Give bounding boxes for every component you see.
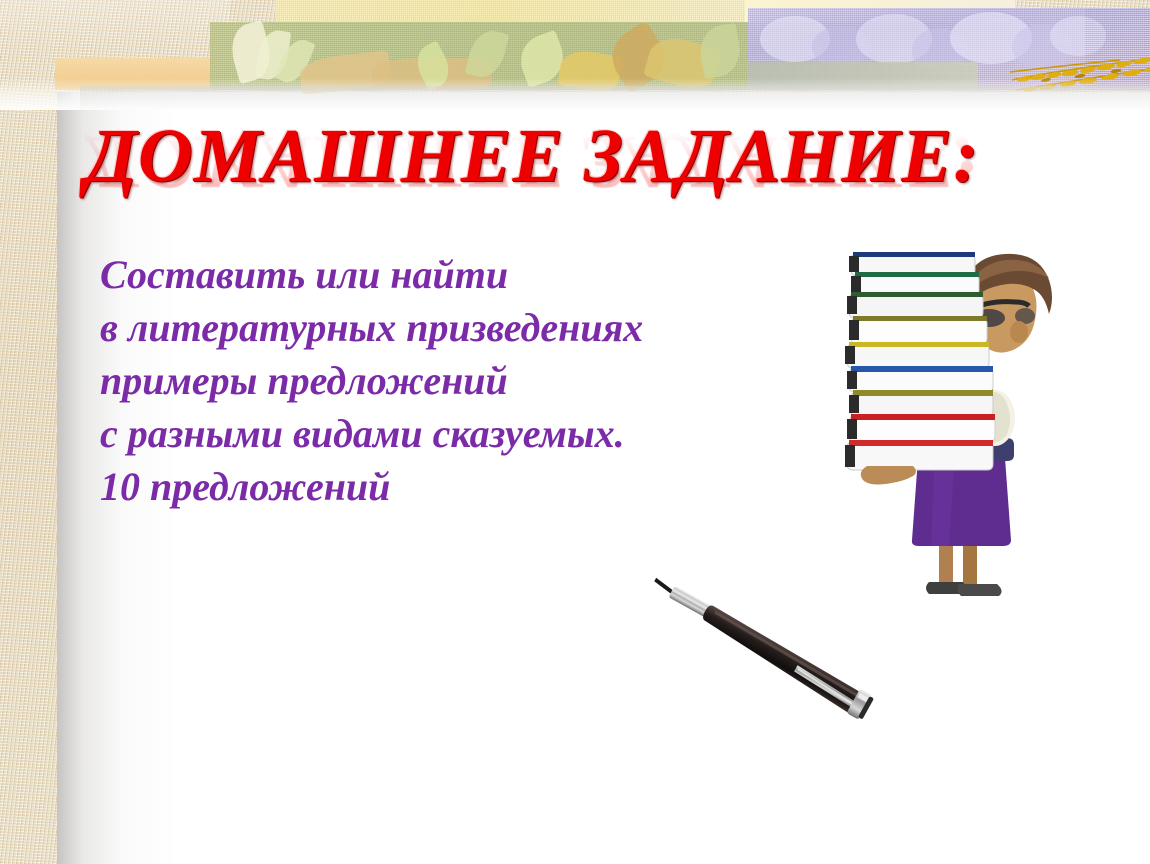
page-title-text: ДОМАШНЕЕ ЗАДАНИЕ: xyxy=(85,118,979,194)
deco-yellow-dither xyxy=(275,0,745,24)
assignment-line: Составить или найти xyxy=(100,248,780,301)
assignment-line: примеры предложений xyxy=(100,354,780,407)
assignment-line: с разными видами сказуемых. xyxy=(100,407,780,460)
deco-bottom-fade-inner xyxy=(80,86,1150,110)
assignment-line: 10 предложений xyxy=(100,460,780,513)
fountain-pen-illustration xyxy=(640,560,940,730)
assignment-line: в литературных призведениях xyxy=(100,301,780,354)
slide-canvas: ДОМАШНЕЕ ЗАДАНИЕ: ДОМАШНЕЕ ЗАДАНИЕ: Сост… xyxy=(0,0,1150,864)
assignment-text: Составить или найти в литературных призв… xyxy=(100,248,780,513)
page-title: ДОМАШНЕЕ ЗАДАНИЕ: ДОМАШНЕЕ ЗАДАНИЕ: xyxy=(85,118,1085,248)
woman-carrying-book-stack-illustration xyxy=(843,232,1073,607)
decorative-collage-border xyxy=(0,0,1150,110)
